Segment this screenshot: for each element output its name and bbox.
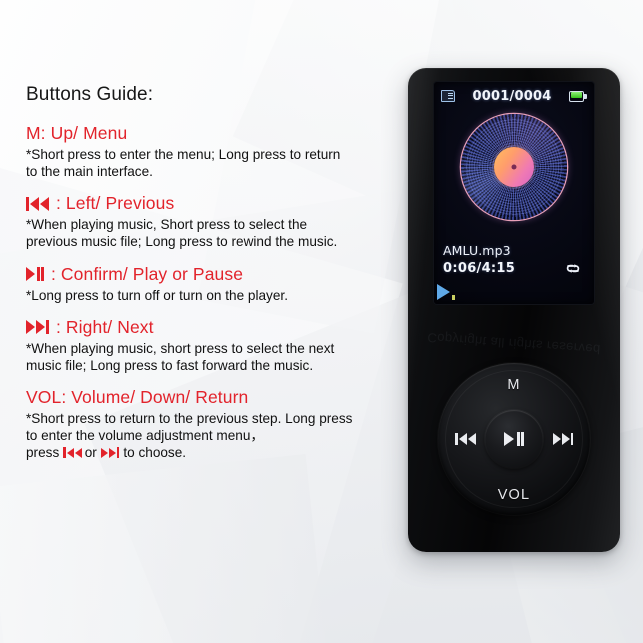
battery-icon [569,91,587,102]
album-art-vinyl [461,114,567,220]
guide-section-next: : Right/ Next *When playing music, short… [26,317,406,374]
guide-section-previous: : Left/ Previous *When playing music, Sh… [26,193,406,250]
guide-section-volume: VOL: Volume/ Down/ Return *Short press t… [26,387,406,461]
background-facet [0,454,333,643]
time-row: 0:06/4:15 [443,261,586,276]
track-counter: 0001/0004 [473,89,552,104]
guide-heading-label: : Left/ Previous [56,193,174,214]
guide-heading-play-pause: : Confirm/ Play or Pause [26,264,406,285]
wheel-button-previous[interactable] [455,433,476,445]
vinyl-center-hole [512,165,517,170]
wheel-button-next[interactable] [553,433,574,445]
screen-status-bar: 0001/0004 [434,88,594,104]
inline-text-post: to choose. [123,444,186,461]
control-wheel[interactable]: M VOL [438,363,590,515]
track-name: AMLU.mp3 [443,243,586,258]
buttons-guide-panel: Buttons Guide: M: Up/ Menu *Short press … [26,84,406,474]
guide-heading-label: M: Up/ Menu [26,123,127,144]
guide-body-previous: *When playing music, Short press to sele… [26,216,406,250]
guide-heading-label: VOL: Volume/ Down/ Return [26,387,248,408]
guide-section-play-pause: : Confirm/ Play or Pause *Long press to … [26,264,406,304]
sd-card-icon [441,90,455,102]
next-icon [26,320,49,334]
guide-heading-label: : Confirm/ Play or Pause [51,264,243,285]
guide-heading-menu: M: Up/ Menu [26,123,406,144]
player-screen: 0001/0004 AMLU.mp3 0:06/4:15 [434,82,594,304]
next-icon [101,447,120,458]
guide-section-menu: M: Up/ Menu *Short press to enter the me… [26,123,406,180]
control-wheel-area: M VOL [408,363,620,523]
wheel-button-volume[interactable]: VOL [498,487,531,503]
page-title: Buttons Guide: [26,84,406,106]
repeat-all-icon [564,262,582,275]
guide-body-volume-inline: press or to choose. [26,444,406,461]
mp3-player-device: Copyright all rights reserved 0001/0004 … [408,68,620,552]
guide-heading-next: : Right/ Next [26,317,406,338]
now-playing-info: AMLU.mp3 0:06/4:15 [443,243,586,276]
play-pause-icon [504,432,523,446]
guide-body-play-pause: *Long press to turn off or turn on the p… [26,287,406,304]
guide-body-next: *When playing music, short press to sele… [26,340,406,374]
guide-heading-volume: VOL: Volume/ Down/ Return [26,387,406,408]
wheel-button-menu[interactable]: M [507,377,520,393]
play-icon [437,284,455,300]
guide-body-menu: *Short press to enter the menu; Long pre… [26,146,406,180]
inline-text-mid: or [85,444,97,461]
previous-icon [63,447,82,458]
guide-body-volume: *Short press to return to the previous s… [26,410,406,444]
inline-text-pre: press [26,444,59,461]
watermark-text: Copyright all rights reserved [414,329,615,358]
guide-heading-previous: : Left/ Previous [26,193,406,214]
track-time: 0:06/4:15 [443,261,515,276]
play-pause-icon [26,267,44,281]
guide-heading-label: : Right/ Next [56,317,154,338]
wheel-button-play-pause[interactable] [485,410,543,468]
previous-icon [26,197,49,211]
